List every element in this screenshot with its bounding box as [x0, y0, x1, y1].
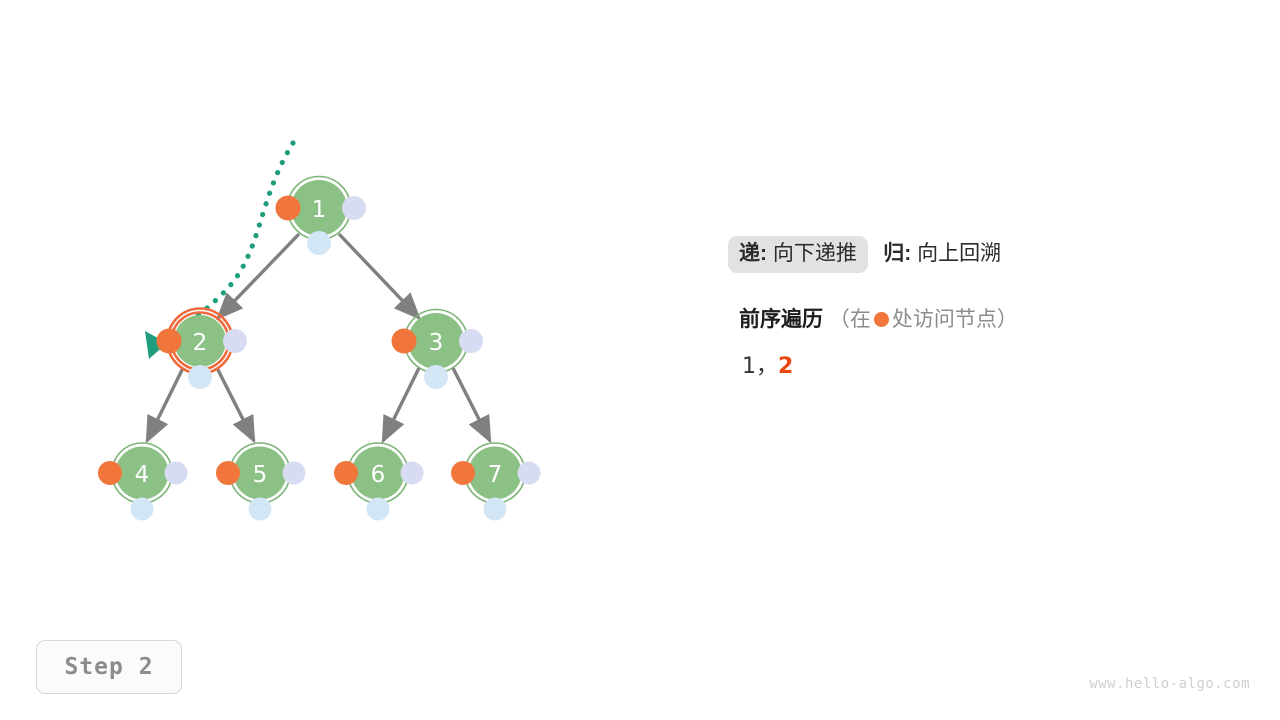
node-2-visit-dot-icon — [157, 329, 182, 354]
node-1-visit-dot-icon — [276, 196, 301, 221]
visit-dot-icon — [874, 312, 889, 327]
node-4-right-dot — [165, 462, 188, 485]
node-7-bottom-dot — [484, 498, 507, 521]
edge-2-4 — [147, 368, 183, 441]
node-6-label: 6 — [371, 462, 386, 488]
node-1-bottom-dot — [307, 231, 331, 255]
legend-row-descend: 递: 向下递推 — [728, 236, 868, 273]
traversal-sequence-previous: 1， — [742, 354, 778, 379]
legend-row-return: 归: 向上回溯 — [872, 236, 1012, 273]
node-3-bottom-dot — [424, 365, 448, 389]
tree-node-3[interactable]: 3 — [392, 310, 484, 390]
step-badge: Step 2 — [36, 640, 182, 694]
node-5-visit-dot-icon — [216, 461, 240, 485]
node-5-label: 5 — [253, 462, 268, 488]
recursion-path-line — [163, 143, 293, 340]
legend-panel: 递: 向下递推 归: 向上回溯 前序遍历 （在处访问节点） 1，2 — [728, 232, 1248, 380]
node-3-visit-dot-icon — [392, 329, 417, 354]
traversal-sequence: 1，2 — [728, 348, 1248, 380]
node-4-bottom-dot — [131, 498, 154, 521]
node-6-visit-dot-icon — [334, 461, 358, 485]
watermark: www.hello-algo.com — [1089, 676, 1250, 692]
node-6-right-dot — [401, 462, 424, 485]
traversal-title: 前序遍历 （在处访问节点） — [728, 309, 1248, 330]
traversal-note-suffix: 处访问节点） — [892, 308, 1018, 331]
traversal-name: 前序遍历 — [739, 308, 823, 331]
edge-1-3 — [339, 234, 419, 318]
tree-node-5[interactable]: 5 — [216, 443, 306, 521]
tree-node-7[interactable]: 7 — [451, 443, 541, 521]
node-6-bottom-dot — [367, 498, 390, 521]
tree-node-6[interactable]: 6 — [334, 443, 424, 521]
node-5-bottom-dot — [249, 498, 272, 521]
edge-1-2 — [218, 234, 299, 318]
legend-return-key: 归: — [883, 242, 911, 265]
node-1-right-dot — [342, 196, 366, 220]
node-2-right-dot — [223, 329, 247, 353]
node-4-label: 4 — [135, 462, 150, 488]
node-3-label: 3 — [429, 330, 444, 356]
tree-node-2[interactable]: 2 — [157, 309, 248, 390]
traversal-sequence-current: 2 — [778, 354, 793, 379]
node-2-label: 2 — [193, 330, 208, 356]
traversal-note-prefix: （在 — [829, 308, 871, 331]
tree-node-4[interactable]: 4 — [98, 443, 188, 521]
illustration-canvas: 1 2 3 4 — [0, 0, 1280, 720]
legend-descend-key: 递: — [739, 242, 767, 265]
edge-3-7 — [453, 368, 490, 441]
node-4-visit-dot-icon — [98, 461, 122, 485]
edge-2-5 — [217, 368, 254, 441]
node-5-right-dot — [283, 462, 306, 485]
node-7-label: 7 — [488, 462, 503, 488]
node-2-bottom-dot — [188, 365, 212, 389]
edge-3-6 — [383, 368, 419, 441]
legend-descend-value: 向下递推 — [773, 242, 857, 265]
node-7-right-dot — [518, 462, 541, 485]
legend-return-value: 向上回溯 — [917, 242, 1001, 265]
node-7-visit-dot-icon — [451, 461, 475, 485]
node-3-right-dot — [459, 329, 483, 353]
node-1-label: 1 — [312, 197, 327, 223]
